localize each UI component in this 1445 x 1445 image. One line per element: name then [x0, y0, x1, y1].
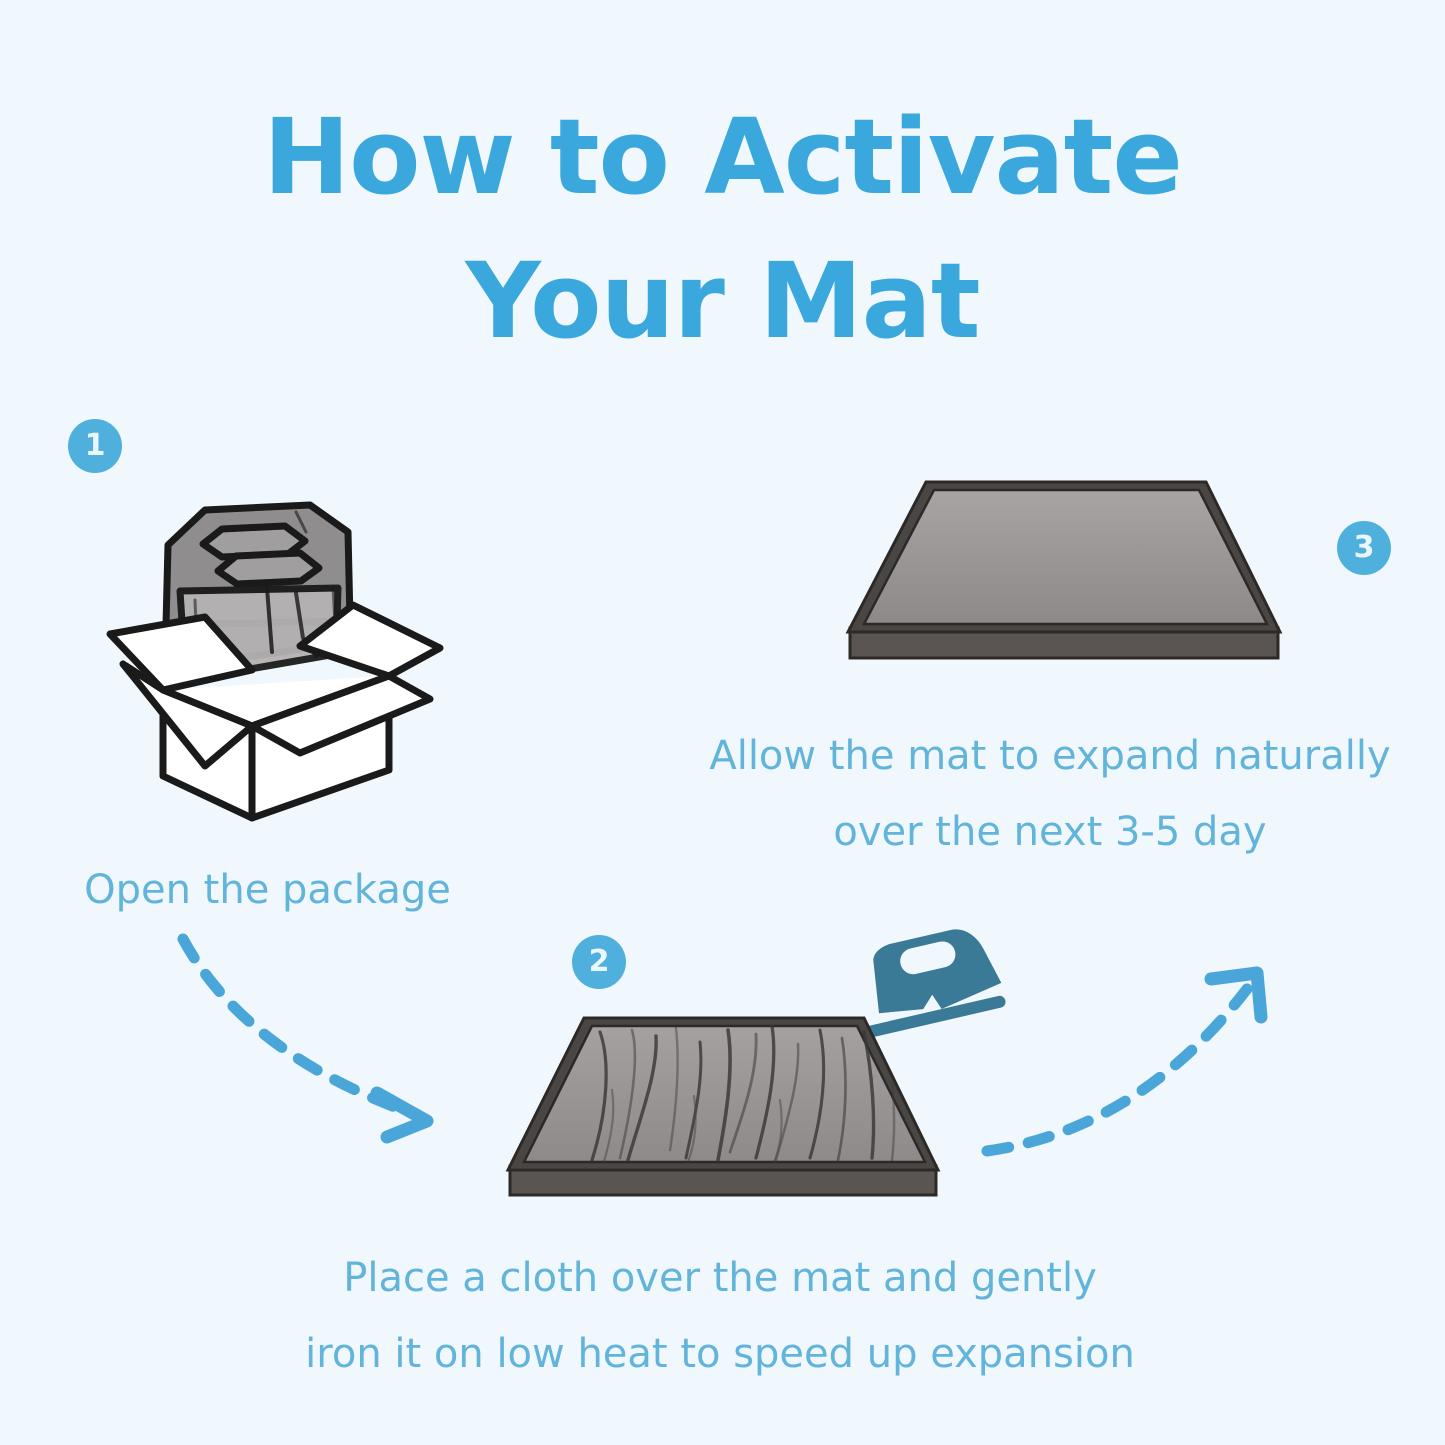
mat-with-cloth-illustration — [480, 1000, 966, 1232]
page-title: How to Activate Your Mat — [0, 86, 1445, 373]
open-box-illustration — [100, 488, 452, 820]
dashed-curve — [987, 989, 1247, 1151]
step-3-caption: Allow the mat to expand naturally over t… — [660, 718, 1440, 870]
infographic-canvas: How to Activate Your Mat 1 — [0, 0, 1445, 1445]
step-2-caption: Place a cloth over the mat and gently ir… — [190, 1240, 1250, 1392]
mat-icon — [480, 1000, 966, 1232]
page-title-line-2: Your Mat — [0, 230, 1445, 374]
expanded-mat-illustration — [820, 460, 1306, 692]
mat-icon — [820, 460, 1306, 692]
step-3-caption-line-2: over the next 3-5 day — [660, 794, 1440, 870]
step-2-caption-line-1: Place a cloth over the mat and gently — [190, 1240, 1250, 1316]
step-badge-3: 3 — [1337, 521, 1391, 575]
step-1-caption-line-1: Open the package — [0, 852, 535, 928]
arrowhead-icon — [377, 1093, 427, 1137]
page-title-line-1: How to Activate — [0, 86, 1445, 230]
step-badge-2: 2 — [572, 935, 626, 989]
step-3-caption-line-1: Allow the mat to expand naturally — [660, 718, 1440, 794]
step-1-caption: Open the package — [0, 852, 535, 928]
arrow-step2-to-step3 — [975, 955, 1295, 1185]
cardboard-box-icon — [100, 488, 452, 820]
mat-top-surface — [864, 490, 1267, 624]
arrow-step1-to-step2 — [165, 925, 495, 1155]
step-badge-1: 1 — [68, 419, 122, 473]
step-2-caption-line-2: iron it on low heat to speed up expansio… — [190, 1316, 1250, 1392]
mat-top-surface — [524, 1026, 925, 1162]
